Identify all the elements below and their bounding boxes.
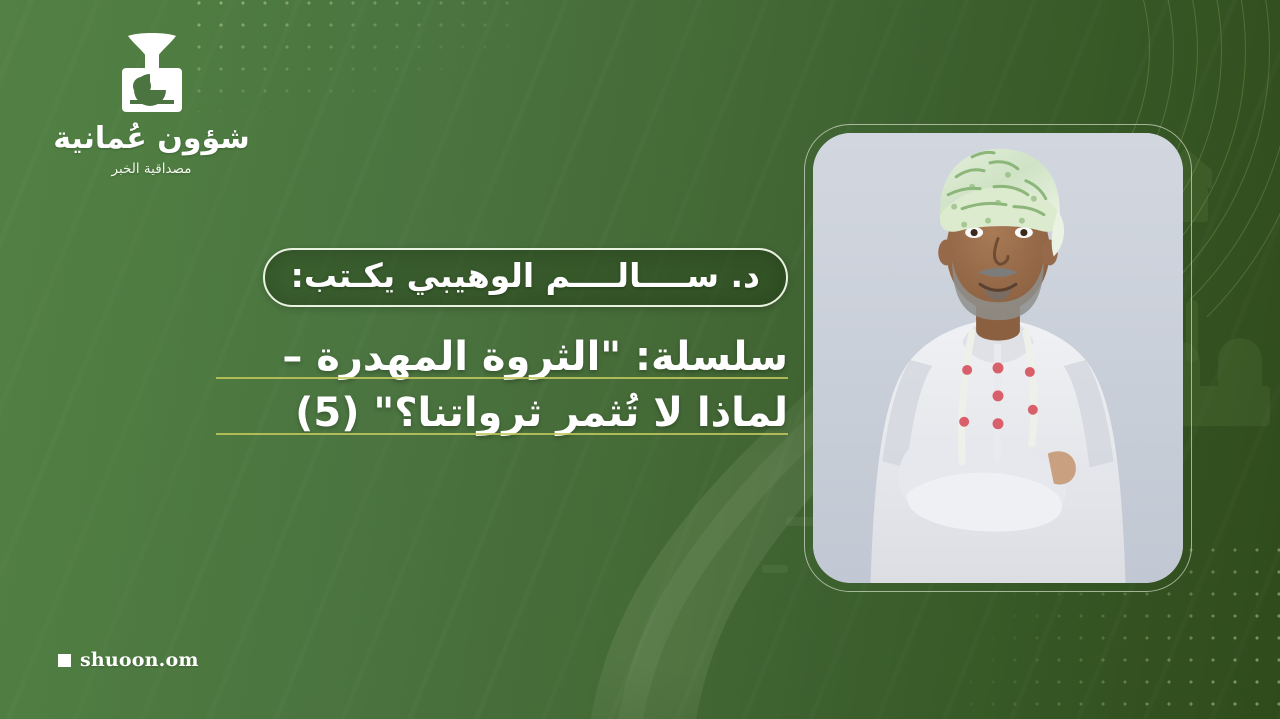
site-logo[interactable]: شؤون عُمانية مصداقية الخبر	[44, 30, 259, 177]
headline-block: د. ســــالــــم الوهيبي يكـتب: سلسلة: "ا…	[216, 248, 788, 441]
incense-burner-logo-icon	[104, 30, 200, 116]
portrait-photo	[813, 133, 1183, 583]
portrait-frame	[804, 124, 1192, 592]
banner-canvas: شؤون عُمانية مصداقية الخبر د. ســــالـــ…	[0, 0, 1280, 719]
author-badge-label: د. ســــالــــم الوهيبي يكـتب:	[291, 256, 760, 295]
website-url-label: shuoon.om	[80, 649, 199, 671]
headline-line-1: سلسلة: "الثروة المهدرة –	[216, 329, 788, 385]
square-bullet-icon	[58, 654, 71, 667]
logo-wordmark: شؤون عُمانية	[44, 124, 259, 154]
article-headline: سلسلة: "الثروة المهدرة – لماذا لا تُثمر …	[216, 329, 788, 441]
headline-line-2: لماذا لا تُثمر ثرواتنا؟" (5)	[216, 385, 788, 441]
footer-website[interactable]: shuoon.om	[58, 649, 199, 671]
logo-tagline: مصداقية الخبر	[44, 161, 259, 177]
author-badge: د. ســــالــــم الوهيبي يكـتب:	[263, 248, 788, 307]
